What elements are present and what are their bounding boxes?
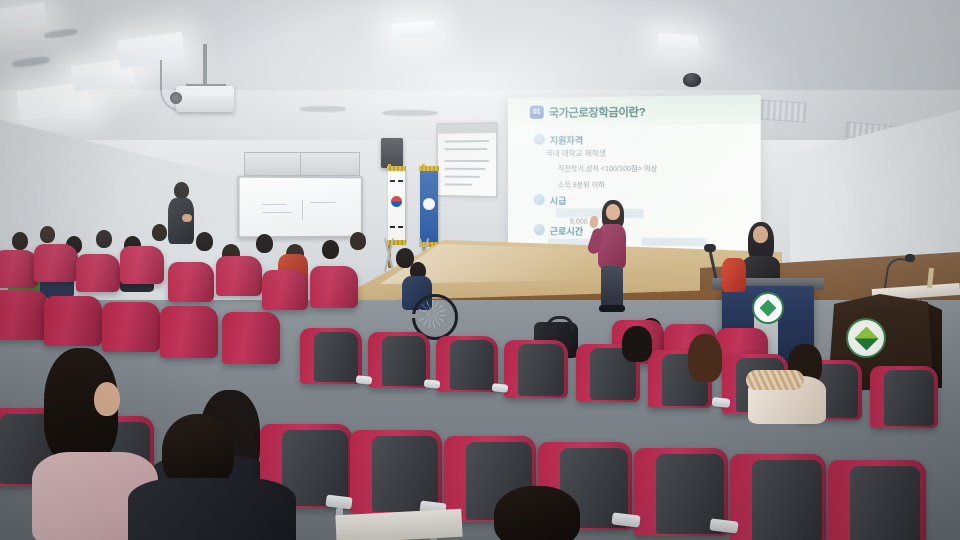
wall-cabinet bbox=[244, 152, 302, 176]
seat bbox=[120, 246, 164, 284]
attendee-foreground-right bbox=[470, 486, 610, 540]
seat bbox=[730, 454, 826, 540]
attendee-head bbox=[494, 486, 580, 540]
staff-head bbox=[174, 182, 189, 199]
ceiling-vent bbox=[300, 106, 346, 112]
ceiling-projector bbox=[176, 86, 234, 112]
seat bbox=[0, 250, 38, 288]
secondary-projection-screen bbox=[438, 124, 496, 196]
attendee-coat bbox=[128, 478, 296, 540]
wall-cabinet bbox=[300, 152, 360, 176]
presenter-head bbox=[606, 204, 620, 220]
flag-fringe bbox=[387, 166, 406, 171]
attendee-head bbox=[94, 382, 120, 416]
seat bbox=[34, 244, 78, 282]
flag-fringe bbox=[419, 166, 439, 171]
attendee-hair bbox=[622, 326, 652, 362]
seat bbox=[76, 254, 120, 292]
table-surface-bottom bbox=[335, 509, 462, 540]
attendee-foreground-bottom bbox=[128, 414, 298, 540]
dome-security-camera bbox=[683, 73, 701, 87]
ceiling-light-panel bbox=[391, 20, 436, 39]
ceiling-light-panel bbox=[658, 33, 699, 49]
projector-mount-arm bbox=[203, 44, 207, 88]
seat bbox=[828, 460, 926, 540]
projector-lens bbox=[170, 92, 182, 104]
staff-hand bbox=[182, 214, 192, 222]
auditorium-photo: 01 국가근로장학금이란? 지원자격 국내 대학교 재학생 직전학기 성적 <1… bbox=[0, 0, 960, 540]
ceiling-vent bbox=[382, 110, 438, 116]
